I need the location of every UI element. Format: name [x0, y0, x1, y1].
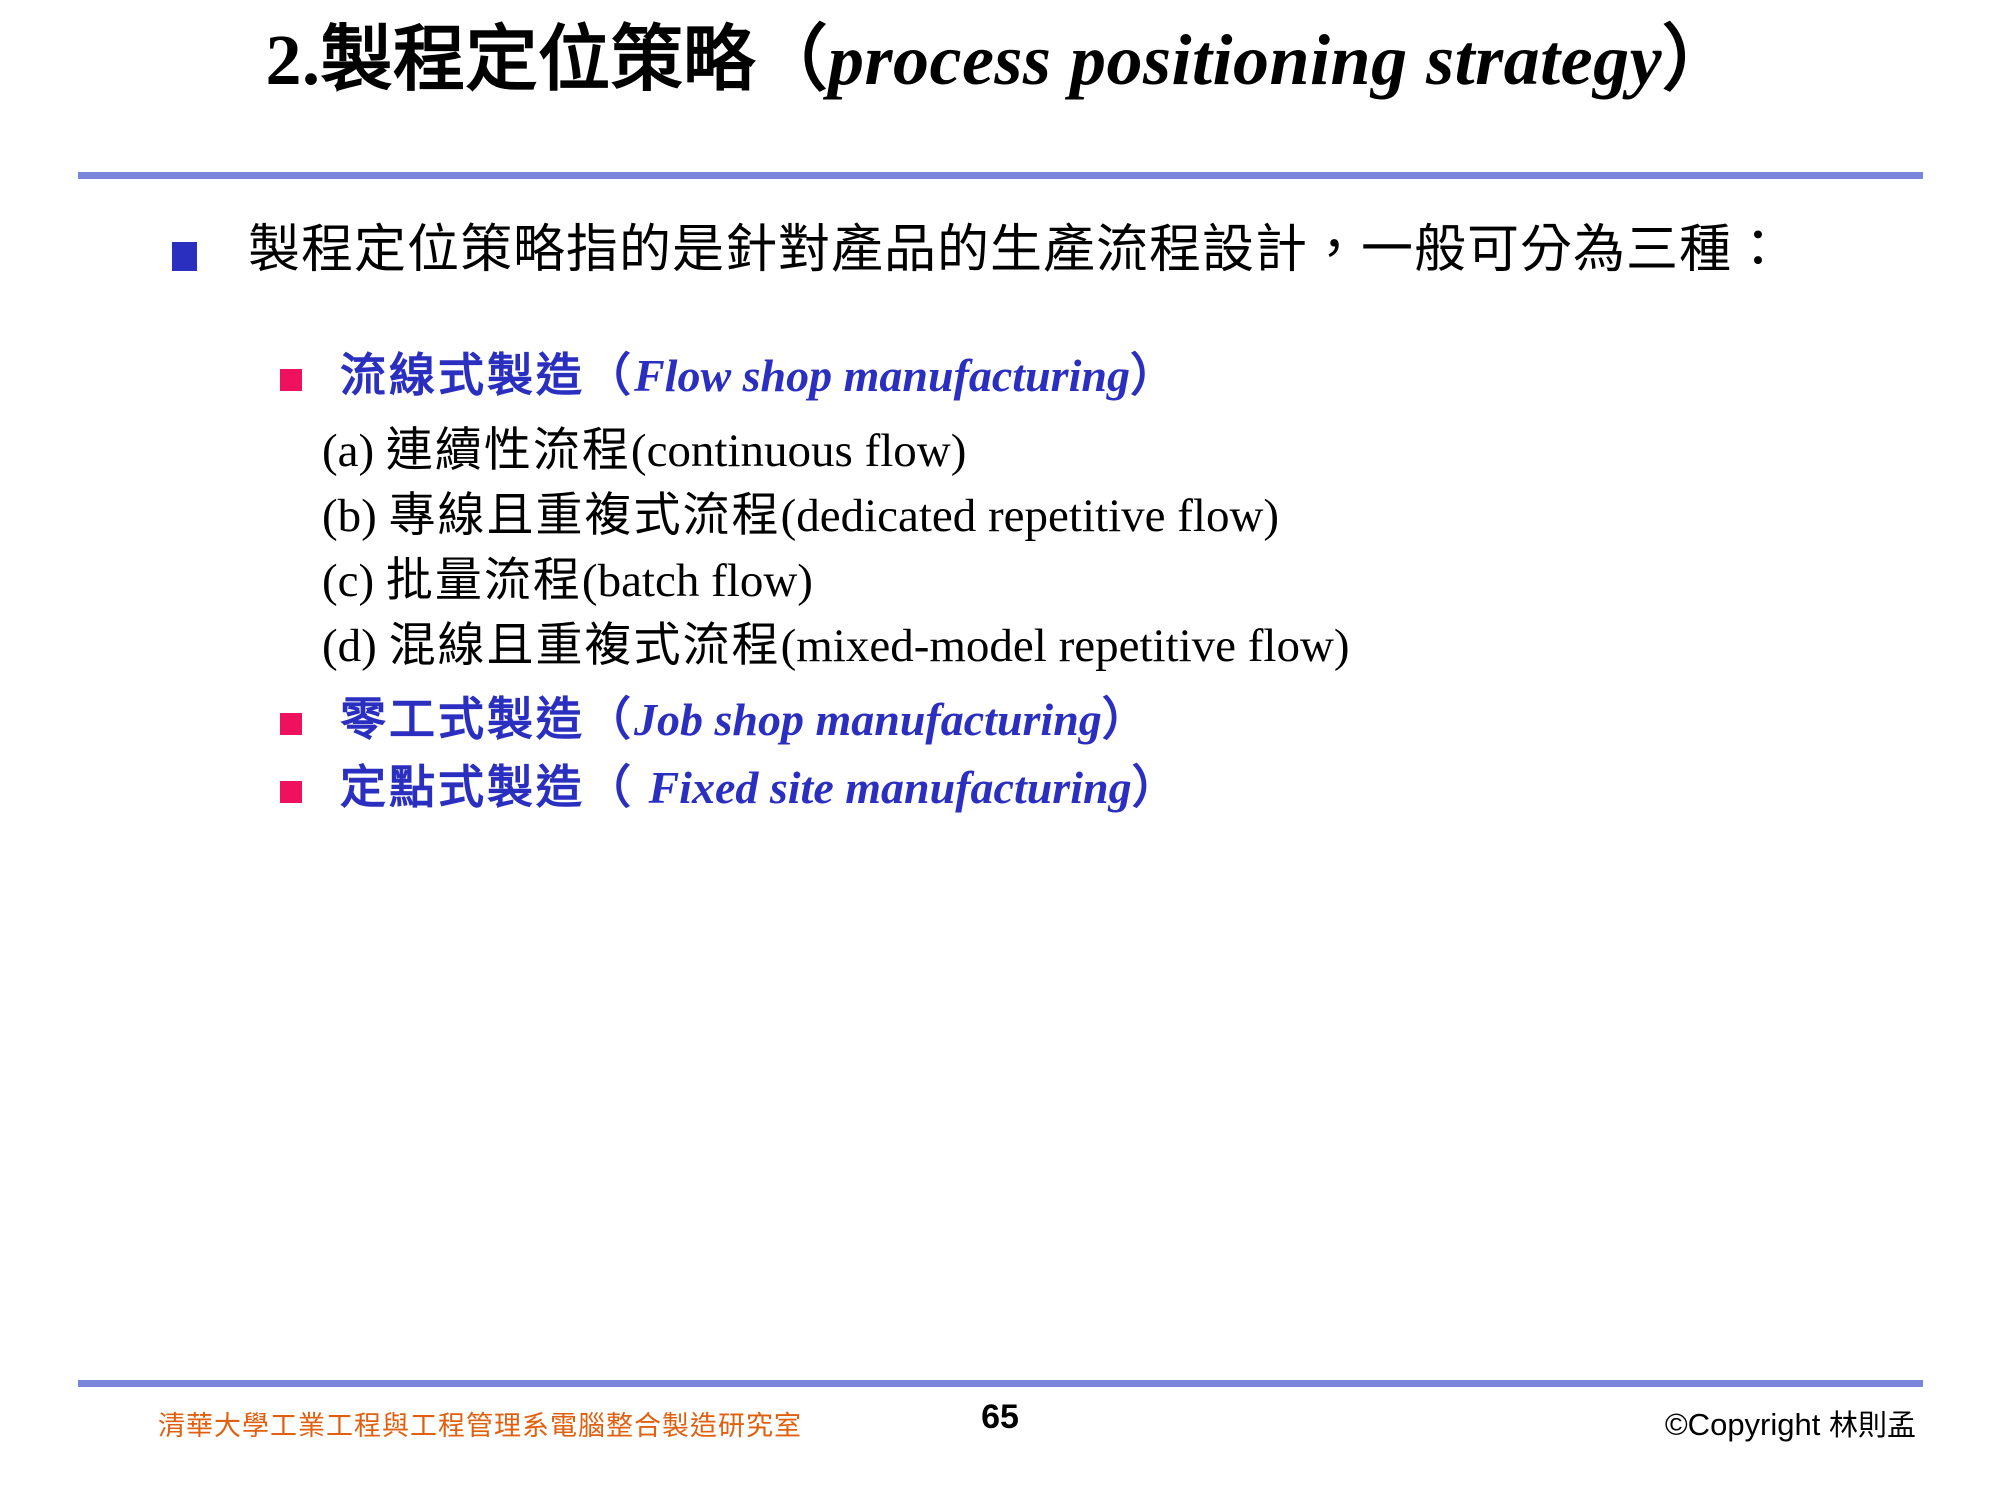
page-title-cjk-close: ）	[1662, 20, 1735, 100]
title-zone: 2.製程定位策略（process positioning strategy）	[0, 22, 2000, 100]
copyright-author: 林則孟	[1829, 1410, 1916, 1442]
pink-square-bullet-icon	[280, 781, 302, 803]
subitem-label: (d)	[322, 620, 377, 672]
title-divider-rule	[78, 172, 1923, 179]
list-item: (d) 混線且重複式流程(mixed-model repetitive flow…	[322, 614, 2000, 679]
copyright-notice: ©Copyright 林則孟	[1665, 1402, 1916, 1444]
page-title-cjk: 2.製程定位策略（	[265, 20, 828, 100]
page-title-en: process positioning strategy	[828, 20, 1662, 100]
subitem-label: (c)	[322, 555, 374, 607]
category-label-cjk: 零工式製造（	[340, 694, 634, 745]
category-label-close: ）	[1132, 762, 1181, 813]
list-item: (b) 專線且重複式流程(dedicated repetitive flow)	[322, 484, 2000, 549]
subitem-en: (dedicated repetitive flow)	[781, 490, 1279, 542]
page-title: 2.製程定位策略（process positioning strategy）	[265, 22, 1734, 100]
category-label-en: Job shop manufacturing	[634, 694, 1102, 745]
pink-square-bullet-icon	[280, 369, 302, 391]
subitem-en: (continuous flow)	[631, 425, 966, 477]
list-item: (a) 連續性流程(continuous flow)	[322, 419, 2000, 484]
footer-divider-rule	[78, 1380, 1923, 1387]
category-label-en: Fixed site manufacturing	[649, 762, 1132, 813]
flow-shop-subitems: (a) 連續性流程(continuous flow) (b) 專線且重複式流程(…	[322, 419, 2000, 678]
blue-square-bullet-icon	[172, 242, 197, 271]
category-item-job-shop: 零工式製造（Job shop manufacturing）	[272, 697, 2000, 743]
pink-square-bullet-icon	[280, 713, 302, 735]
list-item: (c) 批量流程(batch flow)	[322, 549, 2000, 614]
slide-canvas: 2.製程定位策略（process positioning strategy） 製…	[0, 0, 2000, 1500]
subitem-cjk: 批量流程	[386, 555, 582, 607]
subitem-en: (mixed-model repetitive flow)	[781, 620, 1350, 672]
category-item-fixed-site: 定點式製造（ Fixed site manufacturing）	[272, 765, 2000, 811]
copyright-text: ©Copyright	[1665, 1407, 1829, 1442]
lead-bullet-item: 製程定位策略指的是針對產品的生產流程設計，一般可分為三種：	[164, 220, 2000, 281]
subitem-en: (batch flow)	[582, 555, 813, 607]
category-list: 流線式製造（Flow shop manufacturing） (a) 連續性流程…	[272, 353, 2000, 810]
category-label-cjk: 流線式製造（	[340, 350, 634, 401]
category-label-en: Flow shop manufacturing	[634, 350, 1130, 401]
subitem-cjk: 混線且重複式流程	[389, 620, 781, 672]
category-label-close: ）	[1102, 694, 1151, 745]
subitem-cjk: 連續性流程	[386, 425, 631, 477]
footer: 清華大學工業工程與工程管理系電腦整合製造研究室 65 ©Copyright 林則…	[0, 1398, 2000, 1468]
subitem-label: (b)	[322, 490, 377, 542]
category-item-flow-shop: 流線式製造（Flow shop manufacturing）	[272, 353, 2000, 399]
category-label-close: ）	[1130, 350, 1179, 401]
body-content: 製程定位策略指的是針對產品的生產流程設計，一般可分為三種： 流線式製造（Flow…	[0, 220, 2000, 811]
lead-bullet-text: 製程定位策略指的是針對產品的生產流程設計，一般可分為三種：	[248, 222, 1785, 279]
category-label-cjk: 定點式製造（	[340, 762, 649, 813]
subitem-label: (a)	[322, 425, 374, 477]
subitem-cjk: 專線且重複式流程	[389, 490, 781, 542]
